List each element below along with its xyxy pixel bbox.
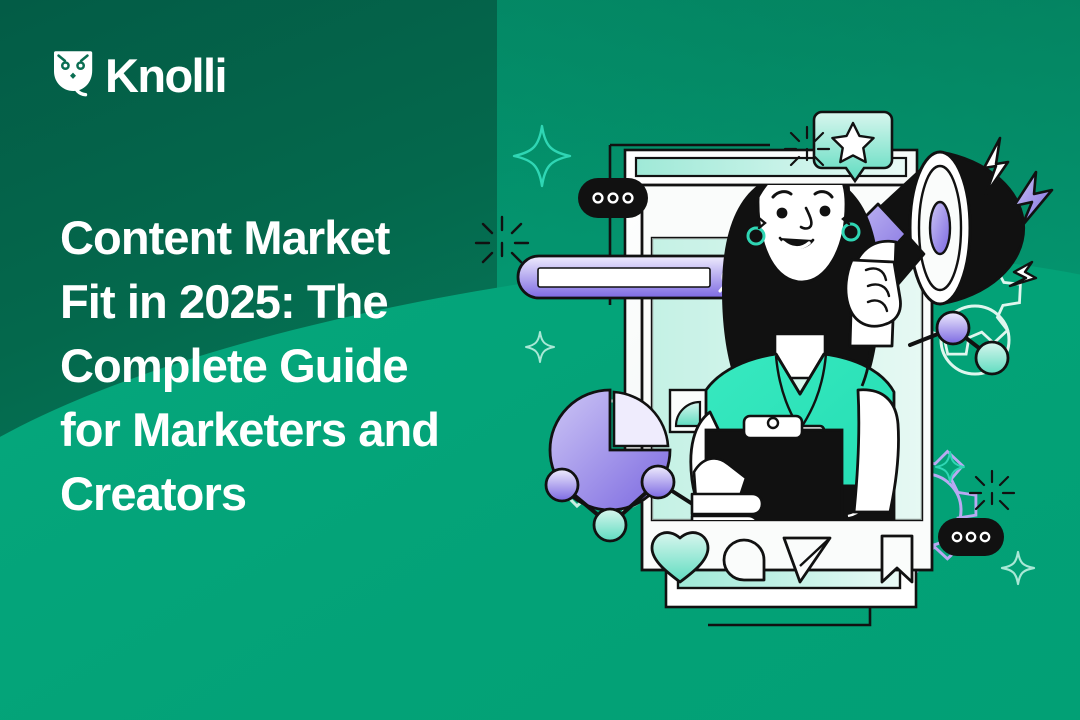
sparkle-icon	[1002, 552, 1034, 584]
brand-name: Knolli	[105, 52, 226, 99]
brand-logo[interactable]: Knolli	[52, 48, 226, 103]
cover-canvas: Knolli Content Market Fit in 2025: The C…	[0, 0, 1080, 720]
page-title: Content Market Fit in 2025: The Complete…	[60, 206, 540, 526]
headline-line-3: Complete Guide	[60, 334, 540, 398]
sparkle-icon	[526, 332, 554, 362]
chat-bubble-left[interactable]	[578, 178, 648, 218]
hero-illustration	[470, 90, 1080, 650]
headline-line-1: Content Market	[60, 206, 540, 270]
sparkle-icon	[476, 217, 528, 262]
comment-icon[interactable]	[724, 540, 764, 580]
headline-line-2: Fit in 2025: The	[60, 270, 540, 334]
hand-grip	[846, 260, 901, 326]
headline-line-4: for Marketers and	[60, 398, 540, 462]
sparkle-icon	[514, 126, 570, 186]
owl-icon	[52, 48, 94, 103]
headline-line-5: Creators	[60, 462, 540, 526]
chat-bubble-right[interactable]	[938, 518, 1004, 556]
